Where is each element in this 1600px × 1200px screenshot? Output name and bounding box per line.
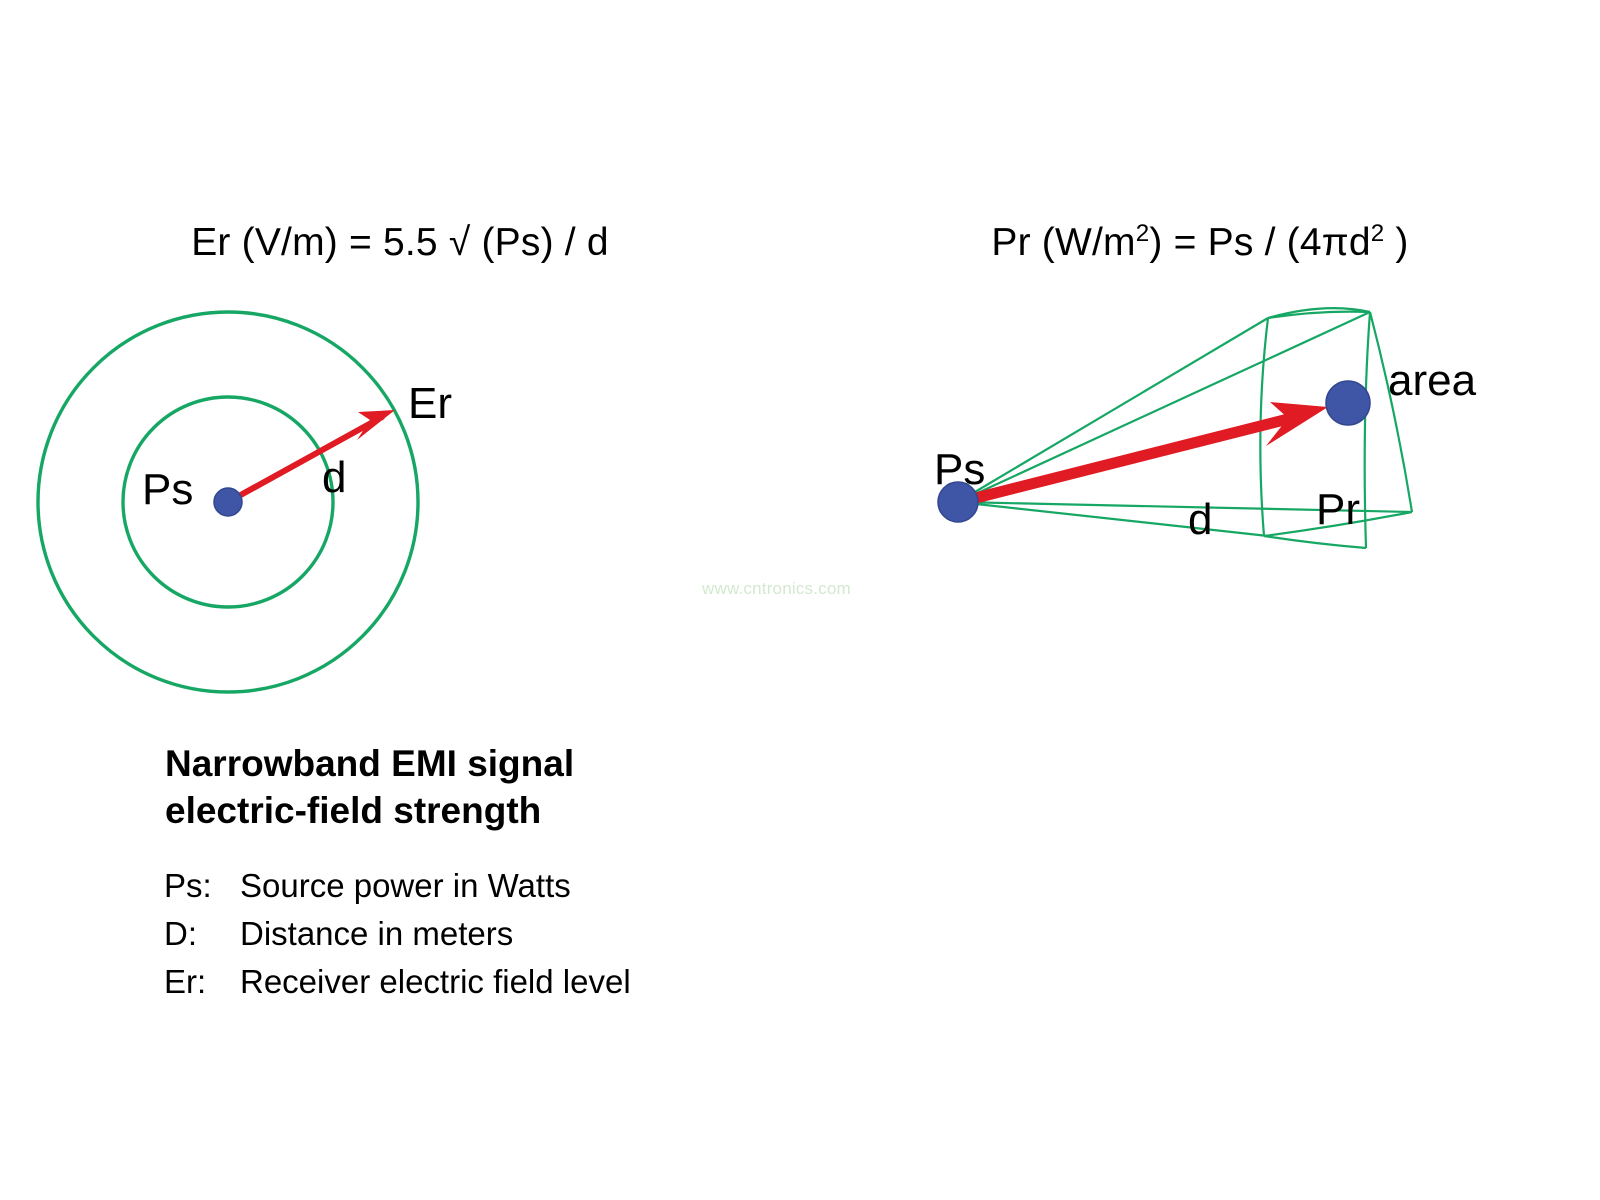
headline-line-2: electric-field strength	[165, 787, 574, 834]
formula-broadband: Pr (W/m2) = Ps / (4πd2 )	[800, 222, 1600, 265]
label-receiver: Pr	[1316, 488, 1360, 532]
legend-key: Er:	[164, 958, 240, 1006]
legend-key: Ps:	[164, 862, 240, 910]
legend-value: Receiver electric field level	[240, 958, 631, 1006]
legend-row: Er: Receiver electric field level	[164, 958, 631, 1006]
formula-part-a: Pr (W/m	[991, 221, 1135, 264]
formula-narrowband: Er (V/m) = 5.5 √ (Ps) / d	[0, 222, 800, 265]
headline-line-1: Narrowband EMI signal	[165, 740, 574, 787]
diagram-canvas: Er (V/m) = 5.5 √ (Ps) / d Ps d Er Narrow…	[0, 0, 1600, 1200]
watermark: www.cntronics.com	[702, 579, 851, 599]
cone-edge-top-left	[958, 318, 1268, 502]
label-source: Ps	[934, 448, 985, 492]
panel-broadband: Pr (W/m2) = Ps / (4πd2 )	[800, 0, 1600, 1200]
formula-part-c: )	[1384, 221, 1408, 264]
distance-arrow-shaft	[960, 416, 1300, 502]
legend-row: D: Distance in meters	[164, 910, 631, 958]
label-distance: d	[322, 456, 346, 500]
legend-value: Source power in Watts	[240, 862, 571, 910]
label-receiver: Er	[408, 382, 452, 426]
label-distance: d	[1188, 498, 1212, 542]
narrowband-diagram: Ps d Er	[0, 290, 800, 710]
formula-part-b: ) = Ps / (4πd	[1149, 221, 1370, 264]
near-section-right-arc	[1365, 312, 1370, 548]
formula-sup-a: 2	[1136, 220, 1150, 247]
near-section-bottom-arc	[1264, 536, 1366, 548]
receiver-dot	[1326, 381, 1370, 425]
far-section-left-arc	[1370, 312, 1412, 512]
narrowband-svg	[0, 290, 800, 710]
legend-row: Ps: Source power in Watts	[164, 862, 631, 910]
formula-sup-b: 2	[1371, 220, 1385, 247]
broadband-diagram: Ps d Pr area	[800, 290, 1600, 710]
legend-key: D:	[164, 910, 240, 958]
legend-narrowband: Ps: Source power in Watts D: Distance in…	[164, 862, 631, 1007]
legend-value: Distance in meters	[240, 910, 513, 958]
headline-narrowband: Narrowband EMI signal electric-field str…	[165, 740, 574, 835]
label-area: area	[1388, 359, 1476, 403]
label-source: Ps	[142, 468, 193, 512]
source-dot	[214, 488, 242, 516]
panel-narrowband: Er (V/m) = 5.5 √ (Ps) / d Ps d Er Narrow…	[0, 0, 800, 1200]
